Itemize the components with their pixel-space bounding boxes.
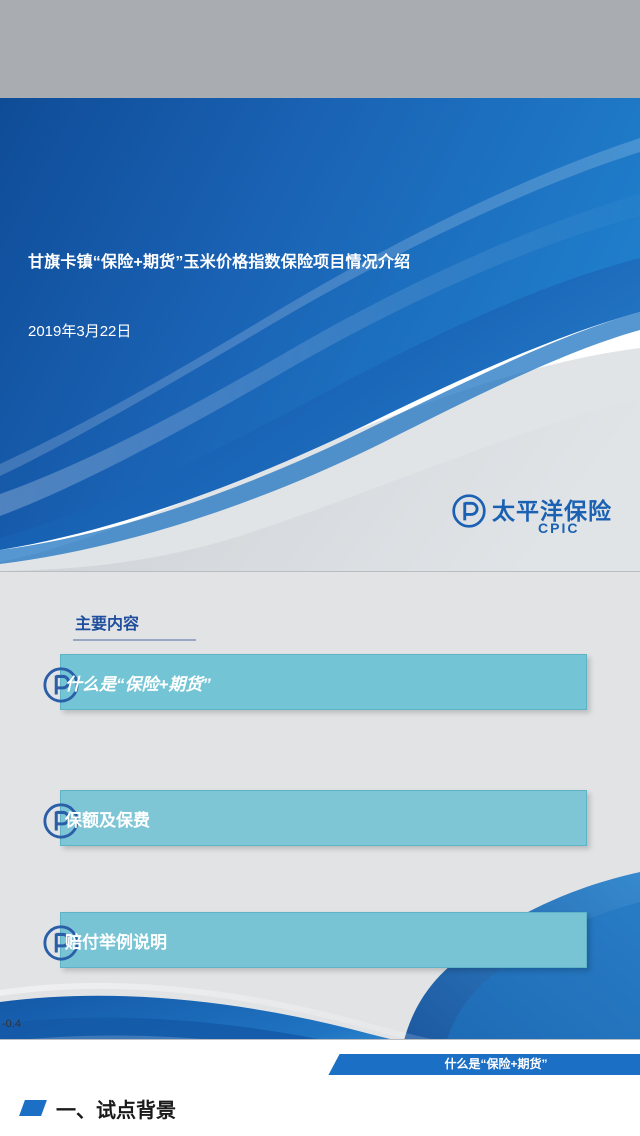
cover-date: 2019年3月22日 bbox=[28, 320, 131, 341]
agenda-item-2-label: 保额及保费 bbox=[65, 806, 150, 831]
section-title: 一、试点背景 bbox=[56, 1094, 176, 1123]
page-background-top bbox=[0, 0, 640, 98]
section-bullet-icon bbox=[19, 1100, 47, 1116]
slide-background-section: 什么是“保险+期货” 一、试点背景 bbox=[0, 1040, 640, 1136]
slide-cover: 甘旗卡镇“保险+期货”玉米价格指数保险项目情况介绍 2019年3月22日 太平洋… bbox=[0, 98, 640, 571]
logo-text-en: CPIC bbox=[538, 520, 579, 536]
stray-axis-value: -0.4 bbox=[2, 1018, 21, 1030]
agenda-heading-rule bbox=[73, 639, 196, 641]
cpic-p-logo-icon bbox=[452, 494, 486, 528]
agenda-item-1[interactable]: 什么是“保险+期货” bbox=[0, 654, 640, 714]
agenda-heading: 主要内容 bbox=[75, 610, 139, 634]
agenda-item-3-label: 赔付举例说明 bbox=[65, 928, 167, 953]
agenda-item-2[interactable]: 保额及保费 bbox=[0, 790, 640, 850]
agenda-item-1-label: 什么是“保险+期货” bbox=[65, 670, 211, 695]
cpic-logo: 太平洋保险 CPIC bbox=[452, 488, 622, 548]
agenda-item-3[interactable]: 赔付举例说明 bbox=[0, 912, 640, 972]
cover-title: 甘旗卡镇“保险+期货”玉米价格指数保险项目情况介绍 bbox=[28, 248, 410, 272]
slide-agenda: 主要内容 什么是“保险+期货” 保额及保费 赔付举例说明 -0.4 bbox=[0, 572, 640, 1072]
footer-tab-label: 什么是“保险+期货” bbox=[352, 1054, 640, 1075]
